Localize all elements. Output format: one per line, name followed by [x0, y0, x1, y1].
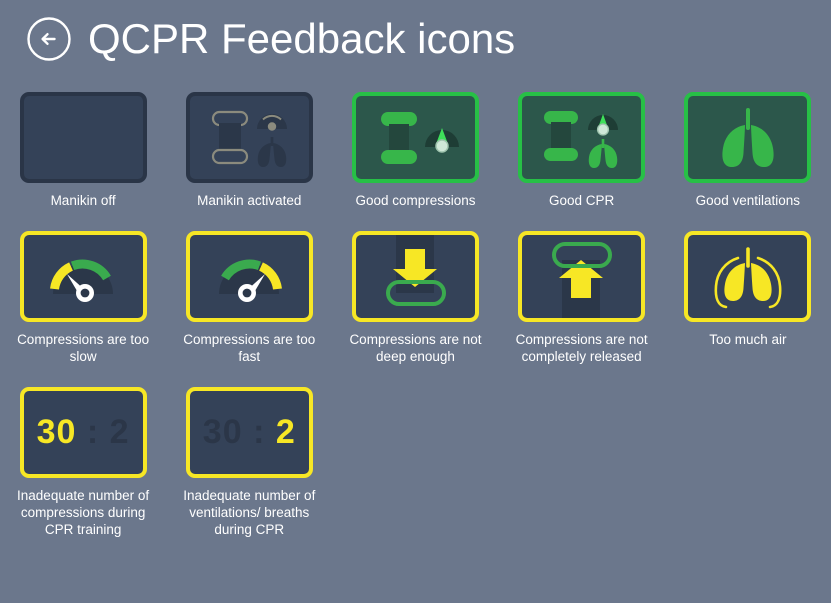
tile-too-much-air[interactable] — [684, 231, 811, 322]
tile-caption: Inadequate number of compressions during… — [8, 487, 158, 538]
qcpr-feedback-icons-page: QCPR Feedback icons Manikin off — [0, 0, 831, 603]
row-spacer — [0, 219, 831, 231]
grid-item-compressions-too-fast[interactable]: Compressions are too fast — [166, 231, 332, 365]
tile-manikin-off[interactable] — [20, 92, 147, 183]
ratio-compressions-value: 30 — [203, 413, 243, 451]
tile-caption: Compressions are too fast — [174, 331, 324, 365]
tile-caption: Manikin off — [51, 192, 116, 209]
grid-item-good-compressions[interactable]: Good compressions — [332, 92, 498, 209]
tile-good-cpr[interactable] — [518, 92, 645, 183]
grid-item-compressions-not-deep-enough[interactable]: Compressions are not deep enough — [332, 231, 498, 365]
arrow-down-to-bar-icon — [356, 235, 475, 318]
arrow-up-to-bar-icon — [522, 235, 641, 318]
grid-item-manikin-activated[interactable]: Manikin activated — [166, 92, 332, 209]
tile-caption: Compressions are not completely released — [507, 331, 657, 365]
grid-item-good-cpr[interactable]: Good CPR — [499, 92, 665, 209]
tile-caption: Compressions are not deep enough — [340, 331, 490, 365]
compression-gauge-lungs-muted-icon — [197, 103, 301, 173]
tile-compressions-too-slow[interactable] — [20, 231, 147, 322]
back-arrow-circle-icon[interactable] — [26, 16, 72, 62]
grid-item-good-ventilations[interactable]: Good ventilations — [665, 92, 831, 209]
gauge-fast-icon — [197, 244, 301, 310]
lungs-overinflated-icon — [704, 244, 792, 310]
ratio-30-2-icon: 30 : 2 — [203, 413, 296, 452]
empty-icon — [28, 101, 138, 175]
tile-compressions-not-completely-released[interactable] — [518, 231, 645, 322]
grid-item-too-much-air[interactable]: Too much air — [665, 231, 831, 365]
grid-item-compressions-not-completely-released[interactable]: Compressions are not completely released — [499, 231, 665, 365]
ratio-ventilations-value: 2 — [110, 413, 130, 451]
ratio-ventilations-value: 2 — [276, 413, 296, 451]
compression-bar-gauge-icon — [363, 103, 467, 173]
tile-inadequate-compressions[interactable]: 30 : 2 — [20, 387, 147, 478]
tile-good-compressions[interactable] — [352, 92, 479, 183]
grid-item-compressions-too-slow[interactable]: Compressions are too slow — [0, 231, 166, 365]
gauge-slow-icon — [31, 244, 135, 310]
tile-compressions-not-deep-enough[interactable] — [352, 231, 479, 322]
tile-compressions-too-fast[interactable] — [186, 231, 313, 322]
tile-manikin-activated[interactable] — [186, 92, 313, 183]
grid-item-inadequate-ventilations[interactable]: 30 : 2 Inadequate number of ventilations… — [166, 387, 332, 538]
tile-caption: Inadequate number of ventilations/ breat… — [174, 487, 324, 538]
compression-gauge-lungs-icon — [530, 103, 634, 173]
ratio-compressions-value: 30 — [37, 413, 77, 451]
tile-inadequate-ventilations[interactable]: 30 : 2 — [186, 387, 313, 478]
tile-caption: Good compressions — [355, 192, 475, 209]
tile-caption: Compressions are too slow — [8, 331, 158, 365]
tile-caption: Manikin activated — [197, 192, 301, 209]
grid-item-manikin-off[interactable]: Manikin off — [0, 92, 166, 209]
ratio-separator: : — [243, 413, 276, 451]
tile-good-ventilations[interactable] — [684, 92, 811, 183]
page-title: QCPR Feedback icons — [88, 15, 515, 63]
grid-item-inadequate-compressions[interactable]: 30 : 2 Inadequate number of compressions… — [0, 387, 166, 538]
tile-caption: Good ventilations — [696, 192, 800, 209]
row-spacer — [0, 375, 831, 387]
icon-grid: Manikin off Manikin activated — [0, 92, 831, 548]
ratio-separator: : — [76, 413, 109, 451]
tile-caption: Good CPR — [549, 192, 614, 209]
ratio-30-2-icon: 30 : 2 — [37, 413, 130, 452]
page-header: QCPR Feedback icons — [0, 0, 831, 78]
tile-caption: Too much air — [709, 331, 786, 348]
lungs-icon — [706, 105, 790, 171]
